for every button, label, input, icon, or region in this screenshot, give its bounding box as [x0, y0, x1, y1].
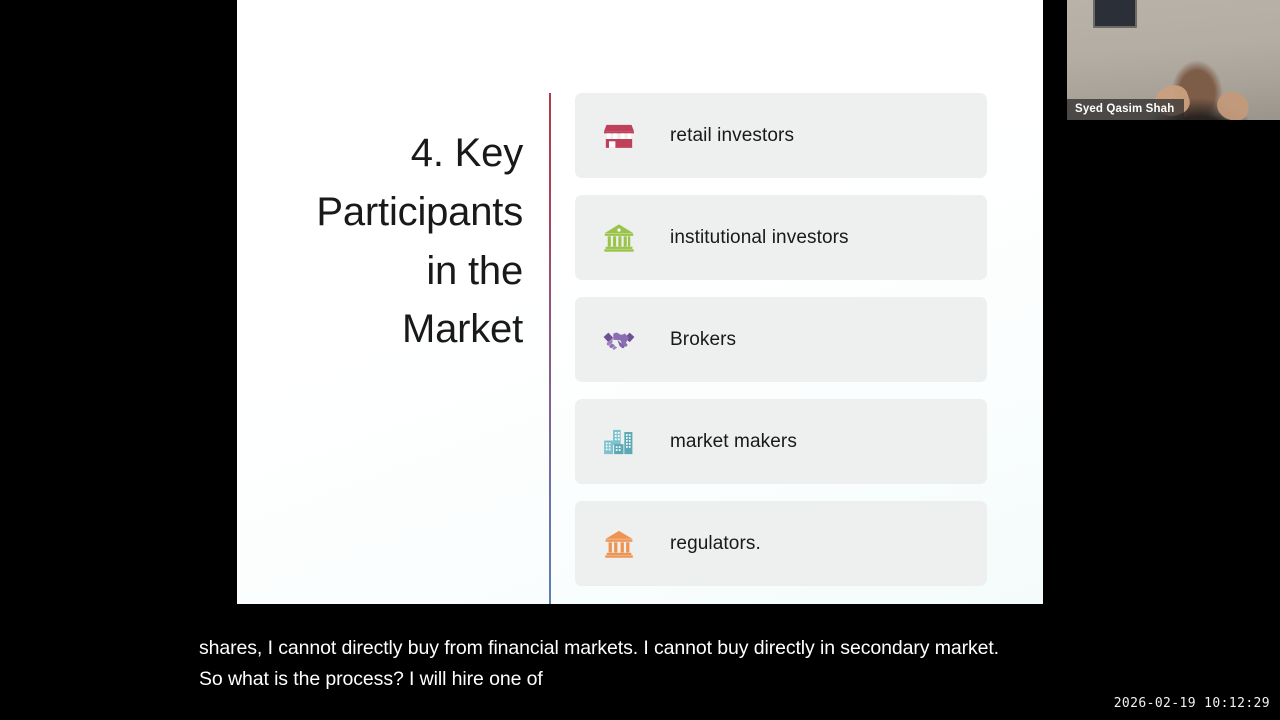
- museum-icon: [600, 525, 638, 563]
- screen-recording-frame: 4. Key Participants in the Market: [0, 0, 1280, 720]
- wall-picture-frame: [1093, 0, 1137, 28]
- slide-title: 4. Key Participants in the Market: [277, 124, 523, 359]
- participant-video-tile[interactable]: Syed Qasim Shah: [1067, 0, 1280, 120]
- recording-timestamp: 2026-02-19 10:12:29: [1114, 696, 1270, 711]
- list-item[interactable]: institutional investors: [575, 195, 987, 280]
- storefront-icon: [600, 117, 638, 155]
- slide-title-line-4: Market: [277, 300, 523, 359]
- presentation-slide[interactable]: 4. Key Participants in the Market: [237, 0, 1043, 604]
- participants-list: retail investors: [575, 93, 987, 586]
- list-item[interactable]: Brokers: [575, 297, 987, 382]
- list-item-label: institutional investors: [670, 227, 849, 249]
- vertical-gradient-divider: [549, 93, 551, 604]
- caption-overlay: shares, I cannot directly buy from finan…: [199, 633, 1089, 695]
- list-item[interactable]: regulators.: [575, 501, 987, 586]
- list-item-label: market makers: [670, 431, 797, 453]
- bank-icon: [600, 219, 638, 257]
- handshake-icon: [600, 321, 638, 359]
- slide-title-line-2: Participants: [277, 183, 523, 242]
- slide-title-line-1: 4. Key: [277, 124, 523, 183]
- list-item-label: regulators.: [670, 533, 761, 555]
- caption-line-2: So what is the process? I will hire one …: [199, 664, 1089, 695]
- list-item-label: retail investors: [670, 125, 794, 147]
- slide-canvas: 4. Key Participants in the Market: [237, 0, 1043, 604]
- list-item[interactable]: market makers: [575, 399, 987, 484]
- list-item-label: Brokers: [670, 329, 736, 351]
- caption-line-1: shares, I cannot directly buy from finan…: [199, 633, 1089, 664]
- city-buildings-icon: [600, 423, 638, 461]
- participant-name-label: Syed Qasim Shah: [1067, 99, 1184, 120]
- list-item[interactable]: retail investors: [575, 93, 987, 178]
- slide-title-line-3: in the: [277, 242, 523, 301]
